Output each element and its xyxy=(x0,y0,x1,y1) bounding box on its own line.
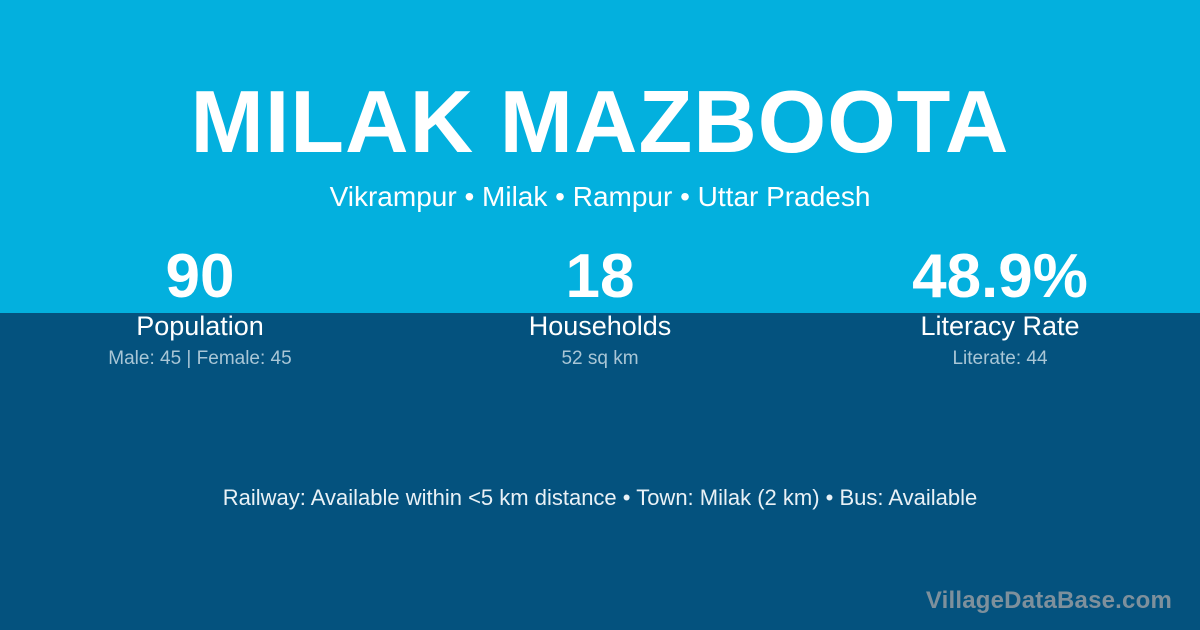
stat-literacy-rate: 48.9% Literacy Rate Literate: 44 xyxy=(800,246,1200,368)
stat-population: 90 Population Male: 45 | Female: 45 xyxy=(0,246,400,368)
amenities-info-line: Railway: Available within <5 km distance… xyxy=(0,487,1200,509)
stat-households-value: 18 xyxy=(400,246,800,313)
stat-population-label: Population xyxy=(0,313,400,346)
stat-literacy-rate-value: 48.9% xyxy=(800,246,1200,313)
site-branding: VillageDataBase.com xyxy=(926,589,1172,613)
stat-literacy-rate-label: Literacy Rate xyxy=(800,313,1200,346)
stat-households-sub: 52 sq km xyxy=(400,349,800,368)
stat-literacy-rate-sub: Literate: 44 xyxy=(800,349,1200,368)
stats-row: 90 Population Male: 45 | Female: 45 18 H… xyxy=(0,246,1200,368)
stat-population-sub: Male: 45 | Female: 45 xyxy=(0,349,400,368)
stat-population-value: 90 xyxy=(0,246,400,313)
stat-households: 18 Households 52 sq km xyxy=(400,246,800,368)
village-info-card: MILAK MAZBOOTA Vikrampur • Milak • Rampu… xyxy=(0,0,1200,630)
stat-households-label: Households xyxy=(400,313,800,346)
page-title: MILAK MAZBOOTA xyxy=(0,78,1200,166)
breadcrumb: Vikrampur • Milak • Rampur • Uttar Prade… xyxy=(0,183,1200,211)
